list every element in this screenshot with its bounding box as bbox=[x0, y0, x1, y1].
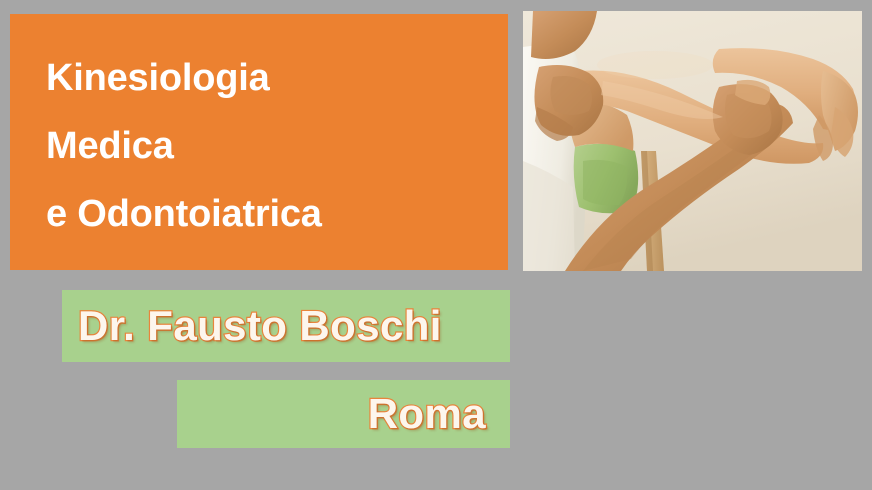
city-name-text: Roma bbox=[368, 393, 486, 435]
city-name-bar: Roma bbox=[177, 380, 510, 448]
title-line-1: Kinesiologia bbox=[46, 44, 508, 112]
doctor-name-text: Dr. Fausto Boschi bbox=[78, 305, 442, 347]
presentation-slide: Kinesiologia Medica e Odontoiatrica bbox=[0, 0, 872, 490]
title-block: Kinesiologia Medica e Odontoiatrica bbox=[10, 14, 508, 270]
title-line-2: Medica bbox=[46, 112, 508, 180]
therapy-photo bbox=[523, 11, 862, 271]
doctor-name-bar: Dr. Fausto Boschi bbox=[62, 290, 510, 362]
title-line-3: e Odontoiatrica bbox=[46, 180, 508, 248]
